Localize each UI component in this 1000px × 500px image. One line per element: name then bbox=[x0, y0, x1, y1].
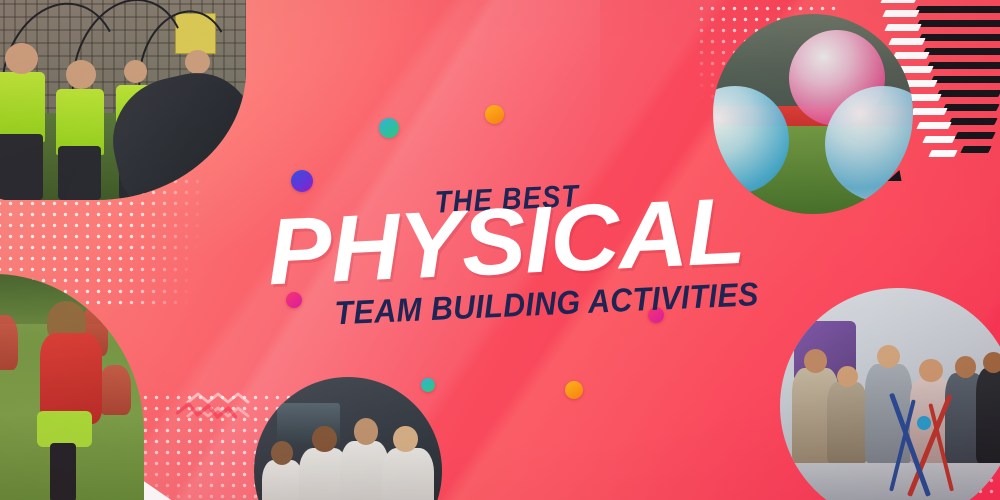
teal-dot bbox=[379, 118, 399, 138]
promo-banner: THE BEST PHYSICAL TEAM BUILDING ACTIVITI… bbox=[0, 0, 1000, 500]
orange-dot-2 bbox=[565, 381, 583, 399]
outdoor-games-photo bbox=[0, 274, 144, 500]
team-challenge-photo bbox=[780, 288, 1000, 500]
teal-dot-2 bbox=[421, 378, 435, 392]
orange-dot bbox=[485, 105, 504, 124]
headline-block: THE BEST PHYSICAL TEAM BUILDING ACTIVITI… bbox=[243, 165, 749, 338]
archery-photo bbox=[0, 0, 246, 200]
office-team-photo bbox=[254, 377, 442, 500]
